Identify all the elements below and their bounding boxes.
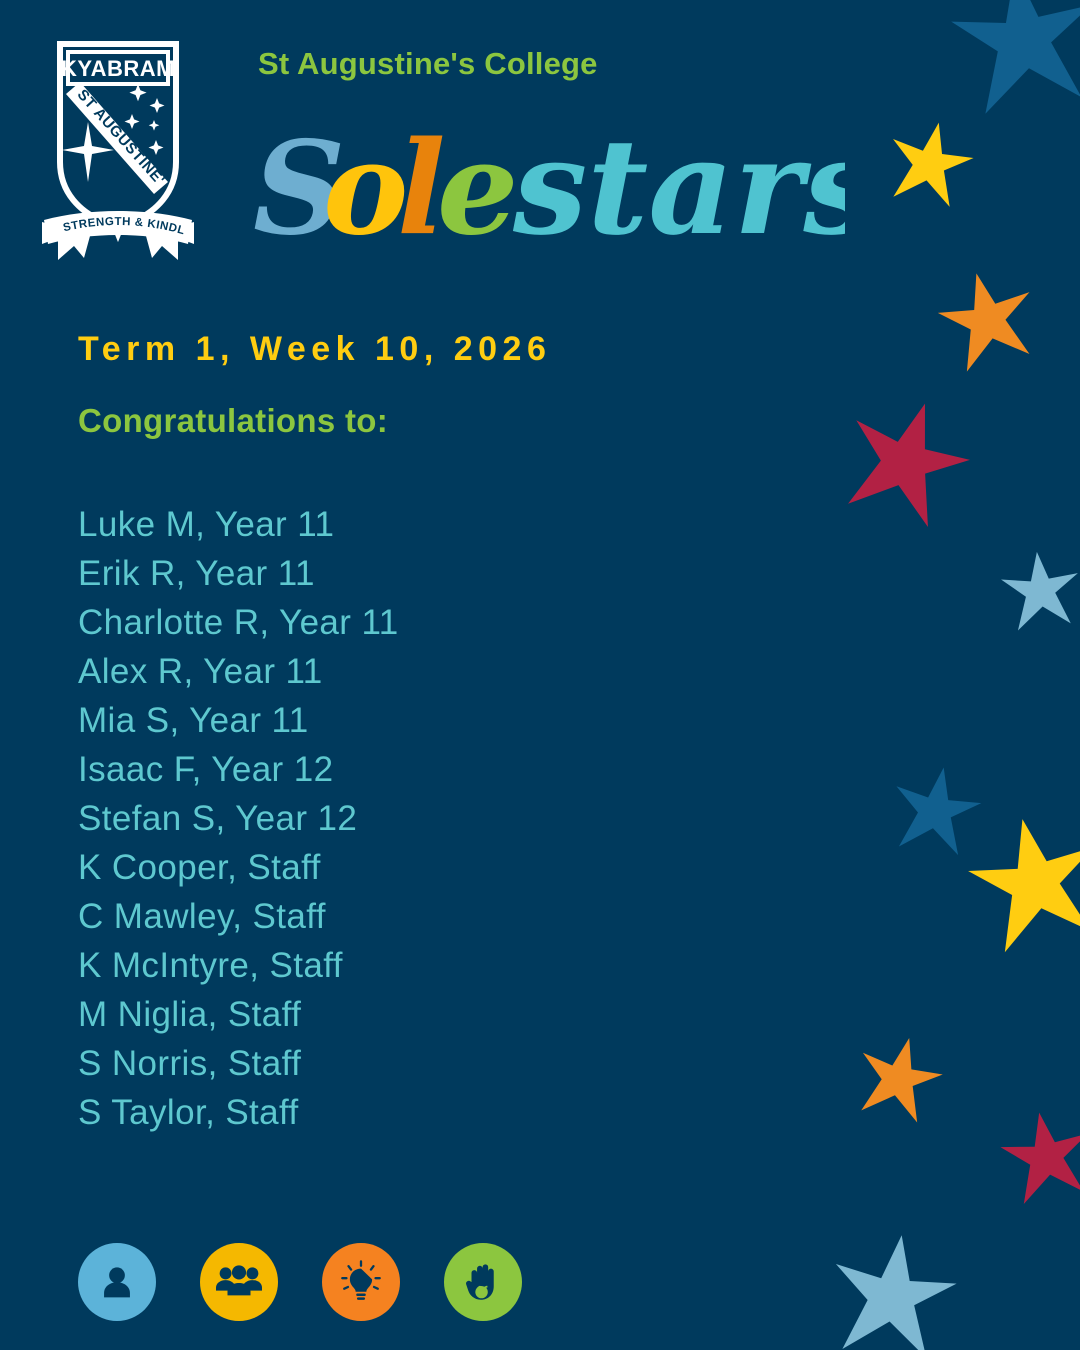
recipient-name-row: Charlotte R, Year 11 <box>78 598 718 647</box>
recipient-name-row: Mia S, Year 11 <box>78 696 718 745</box>
star-orange-bottom-right <box>846 1026 953 1133</box>
recipient-name-row: C Mawley, Staff <box>78 892 718 941</box>
recipient-name-row: Luke M, Year 11 <box>78 500 718 549</box>
school-crest-logo: KYABRAM ST AUGUSTINE'S <box>28 22 208 272</box>
recipient-name-row: Erik R, Year 11 <box>78 549 718 598</box>
person-icon <box>78 1243 156 1321</box>
sole-stars-wordmark: S o l e stars <box>245 100 845 270</box>
title-letter-o: o <box>323 114 408 264</box>
star-yellow-lower-right <box>955 802 1080 963</box>
congratulations-label: Congratulations to: <box>78 402 388 440</box>
star-lightblue-bottom <box>820 1224 967 1350</box>
recipient-name-row: K Cooper, Staff <box>78 843 718 892</box>
recipient-name-row: S Taylor, Staff <box>78 1088 718 1137</box>
sole-value-icons <box>78 1243 522 1321</box>
star-crimson-mid-right <box>825 381 986 542</box>
recipient-names-list: Luke M, Year 11Erik R, Year 11Charlotte … <box>78 500 718 1137</box>
title-word-stars: stars <box>512 110 845 265</box>
star-blue-top-right <box>940 0 1080 125</box>
people-group-icon <box>200 1243 278 1321</box>
recipient-name-row: K McIntyre, Staff <box>78 941 718 990</box>
recipient-name-row: Isaac F, Year 12 <box>78 745 718 794</box>
star-yellow-top-right <box>878 112 982 216</box>
recipient-name-row: Stefan S, Year 12 <box>78 794 718 843</box>
crest-top-band-text: KYABRAM <box>61 56 175 81</box>
recipient-name-row: M Niglia, Staff <box>78 990 718 1039</box>
star-blue-lower-right <box>883 758 990 865</box>
star-lightblue-mid-right <box>996 546 1080 636</box>
title-letter-e: e <box>437 114 518 264</box>
hand-leaf-icon <box>444 1243 522 1321</box>
sole-stars-poster: KYABRAM ST AUGUSTINE'S <box>0 0 1080 1350</box>
lightbulb-icon <box>322 1243 400 1321</box>
recipient-name-row: Alex R, Year 11 <box>78 647 718 696</box>
crest-diagonal-band-text: ST AUGUSTINE'S <box>28 22 168 189</box>
poster-header: KYABRAM ST AUGUSTINE'S <box>0 0 860 300</box>
term-week-year-label: Term 1, Week 10, 2026 <box>78 330 551 369</box>
star-orange-upper-right <box>927 259 1048 380</box>
recipient-name-row: S Norris, Staff <box>78 1039 718 1088</box>
star-crimson-bottom <box>993 1103 1080 1212</box>
school-name-heading: St Augustine's College <box>258 46 598 82</box>
